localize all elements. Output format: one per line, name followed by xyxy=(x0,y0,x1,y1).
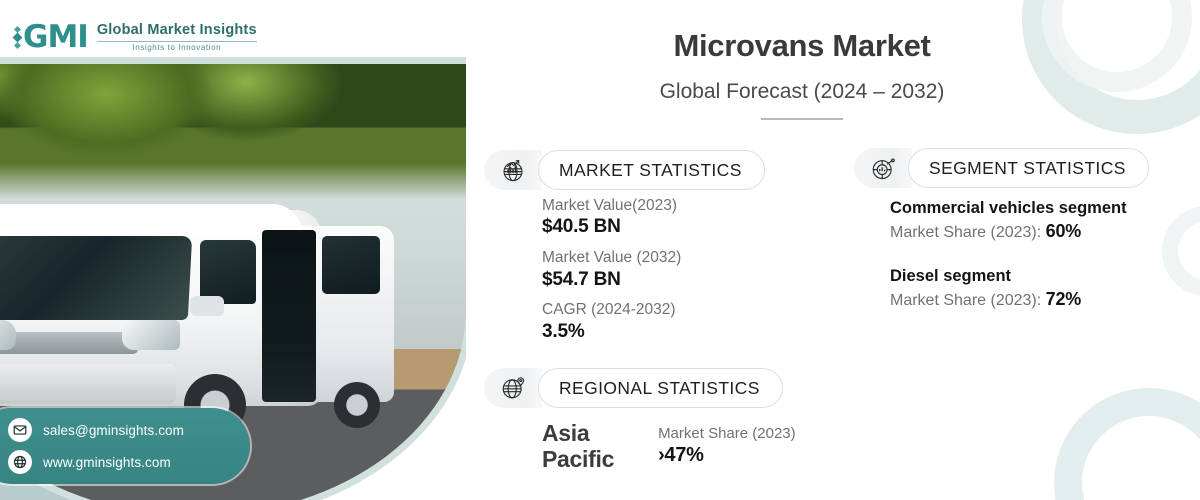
brand-wordmark: Global Market Insights Insights to Innov… xyxy=(97,23,257,52)
segment-share: Market Share (2023): 72% xyxy=(890,287,1127,312)
stat-label: Market Value(2023) xyxy=(542,196,681,215)
stat-value: $40.5 BN xyxy=(542,215,681,239)
market-statistics-list: Market Value(2023) $40.5 BN Market Value… xyxy=(542,196,681,352)
segment-name: Diesel segment xyxy=(890,266,1127,287)
regional-statistics-list: Asia Pacific Market Share (2023) ›47% xyxy=(542,420,796,472)
segment-share-label: Market Share (2023): xyxy=(890,224,1041,241)
segment-name: Commercial vehicles segment xyxy=(890,198,1127,219)
globe-pin-icon xyxy=(484,368,542,408)
brand-name: Global Market Insights xyxy=(97,23,257,39)
region-name: Asia Pacific xyxy=(542,420,614,472)
title-divider xyxy=(452,118,1152,120)
stat-row: Market Value (2032) $54.7 BN xyxy=(542,248,681,291)
segment-item: Diesel segment Market Share (2023): 72% xyxy=(890,266,1127,312)
regional-statistics-label: REGIONAL STATISTICS xyxy=(538,368,783,408)
segment-share-value: 72% xyxy=(1046,289,1081,309)
stat-label: Market Value (2032) xyxy=(542,248,681,267)
stat-value: $54.7 BN xyxy=(542,268,681,292)
market-statistics-header: MARKET STATISTICS xyxy=(480,150,765,190)
contact-email-text: sales@gminsights.com xyxy=(43,423,184,438)
region-share-block: Market Share (2023) ›47% xyxy=(658,420,796,467)
segment-item: Commercial vehicles segment Market Share… xyxy=(890,198,1127,244)
segment-statistics-list: Commercial vehicles segment Market Share… xyxy=(890,198,1127,334)
envelope-icon xyxy=(8,418,32,442)
gmi-diamond-glyphs xyxy=(14,27,21,48)
region-share-value: ›47% xyxy=(658,444,796,467)
brand-tagline: Insights to Innovation xyxy=(97,43,257,52)
page-subtitle: Global Forecast (2024 – 2032) xyxy=(452,80,1152,104)
microvan-illustration xyxy=(0,192,382,442)
segment-share-label: Market Share (2023): xyxy=(890,292,1041,309)
brand-divider xyxy=(97,41,257,42)
infographic-canvas: sales@gminsights.com www.gminsights.com xyxy=(0,0,1200,500)
globe-icon xyxy=(8,450,32,474)
brand-logo[interactable]: GMI Global Market Insights Insights to I… xyxy=(14,22,257,53)
content-panel: GMI Global Market Insights Insights to I… xyxy=(452,0,1200,500)
regional-statistics-header: REGIONAL STATISTICS xyxy=(480,368,783,408)
stat-value: 3.5% xyxy=(542,320,681,344)
contact-website-row[interactable]: www.gminsights.com xyxy=(8,450,232,474)
segment-share-value: 60% xyxy=(1046,221,1081,241)
pie-chart-arrow-icon xyxy=(854,148,912,188)
page-title: Microvans Market xyxy=(452,28,1152,64)
market-statistics-label: MARKET STATISTICS xyxy=(538,150,765,190)
gmi-logo-mark: GMI xyxy=(14,22,88,53)
contact-website-text: www.gminsights.com xyxy=(43,455,171,470)
globe-growth-chart-icon xyxy=(484,150,542,190)
region-share-label: Market Share (2023) xyxy=(658,424,796,444)
segment-statistics-header: SEGMENT STATISTICS xyxy=(850,148,1149,188)
contact-info-pill: sales@gminsights.com www.gminsights.com xyxy=(0,408,250,484)
hero-photo-panel: sales@gminsights.com www.gminsights.com xyxy=(0,0,466,500)
gmi-letters: GMI xyxy=(23,22,88,53)
stat-row: CAGR (2024-2032) 3.5% xyxy=(542,300,681,343)
segment-share: Market Share (2023): 60% xyxy=(890,219,1127,244)
contact-email-row[interactable]: sales@gminsights.com xyxy=(8,418,232,442)
stat-label: CAGR (2024-2032) xyxy=(542,300,681,319)
stat-row: Market Value(2023) $40.5 BN xyxy=(542,196,681,239)
segment-statistics-label: SEGMENT STATISTICS xyxy=(908,148,1149,188)
